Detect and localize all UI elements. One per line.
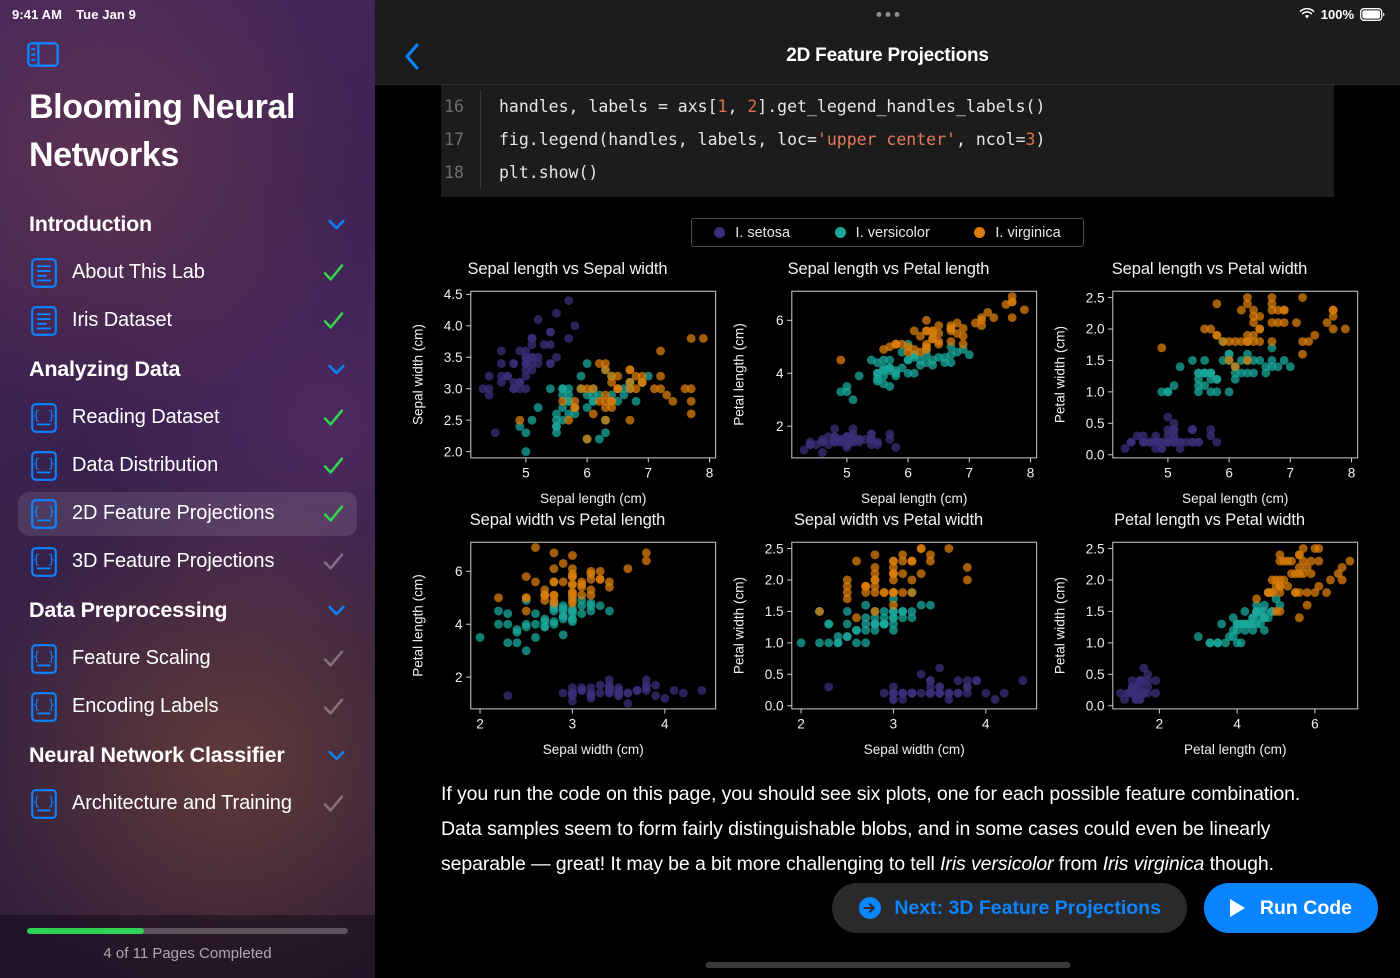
scatter-point bbox=[568, 551, 577, 560]
scatter-point bbox=[626, 365, 635, 374]
scatter-point bbox=[824, 683, 833, 692]
scatter-point bbox=[521, 428, 530, 437]
scatter-point bbox=[564, 296, 573, 305]
x-tick-label: 3 bbox=[569, 717, 577, 732]
sidebar-item-architecture-and-training[interactable]: { } Architecture and Training bbox=[18, 782, 357, 826]
scatter-point bbox=[917, 601, 926, 610]
x-axis-label: Sepal length (cm) bbox=[1182, 491, 1288, 506]
code-page-icon: { } bbox=[31, 692, 57, 722]
code-block[interactable]: 16handles, labels = axs[1, 2].get_legend… bbox=[441, 85, 1334, 197]
scatter-point bbox=[963, 563, 972, 572]
y-axis-label: Sepal width (cm) bbox=[410, 324, 425, 425]
scatter-point bbox=[623, 565, 632, 574]
sidebar-item-label: 3D Feature Projections bbox=[72, 550, 307, 573]
legend-entry: I. setosa bbox=[714, 225, 790, 241]
scatter-point bbox=[540, 615, 549, 624]
scatter-point bbox=[926, 557, 935, 566]
scatter-point bbox=[861, 620, 870, 629]
scatter-point bbox=[926, 689, 935, 698]
scatter-point bbox=[586, 599, 595, 608]
scatter-point bbox=[1275, 607, 1284, 616]
scatter-point bbox=[550, 591, 559, 600]
chart-panel: Sepal width vs Petal length234246Sepal w… bbox=[407, 511, 728, 762]
legend-label: I. setosa bbox=[735, 225, 790, 241]
scatter-point bbox=[568, 615, 577, 624]
multitasking-dots-button[interactable] bbox=[876, 12, 899, 17]
scatter-point bbox=[1244, 620, 1253, 629]
scatter-point bbox=[963, 576, 972, 585]
scatter-point bbox=[521, 353, 530, 362]
scatter-point bbox=[513, 639, 522, 648]
y-tick-label: 3.0 bbox=[444, 381, 463, 396]
code-text: plt.show() bbox=[499, 156, 598, 189]
scatter-point bbox=[503, 610, 512, 619]
scatter-point bbox=[842, 387, 851, 396]
scatter-point bbox=[1243, 356, 1252, 365]
scatter-point bbox=[934, 337, 943, 346]
scatter-point bbox=[1338, 563, 1347, 572]
scatter-point bbox=[842, 438, 851, 447]
scatter-point bbox=[880, 689, 889, 698]
scatter-point bbox=[540, 340, 549, 349]
scatter-point bbox=[910, 369, 919, 378]
scatter-point bbox=[855, 371, 864, 380]
scatter-point bbox=[1206, 639, 1215, 648]
scatter-point bbox=[954, 689, 963, 698]
svg-text:{ }: { } bbox=[33, 503, 56, 518]
chevron-down-icon bbox=[328, 364, 345, 375]
scatter-point bbox=[589, 409, 598, 418]
scatter-point bbox=[843, 620, 852, 629]
scatter-point bbox=[889, 576, 898, 585]
scatter-point bbox=[687, 334, 696, 343]
nav-section-introduction[interactable]: Introduction bbox=[0, 202, 375, 247]
scatter-point bbox=[1008, 297, 1017, 306]
scatter-point bbox=[1008, 313, 1017, 322]
check-icon-incomplete bbox=[322, 792, 345, 815]
scatter-point bbox=[1127, 438, 1136, 447]
check-icon-completed bbox=[322, 406, 345, 429]
scatter-point bbox=[528, 334, 537, 343]
scatter-point bbox=[596, 567, 605, 576]
code-page-icon: { } bbox=[31, 403, 57, 433]
scatter-point bbox=[503, 620, 512, 629]
scatter-point bbox=[614, 684, 623, 693]
check-icon-incomplete bbox=[322, 695, 345, 718]
scatter-plot: 2460.00.51.01.52.02.5Petal length (cm)Pe… bbox=[1049, 534, 1370, 762]
scatter-point bbox=[889, 557, 898, 566]
scatter-point bbox=[989, 313, 998, 322]
x-tick-label: 8 bbox=[706, 465, 714, 480]
svg-text:{ }: { } bbox=[33, 696, 56, 711]
scatter-point bbox=[503, 639, 512, 648]
page-content: 16handles, labels = axs[1, 2].get_legend… bbox=[375, 85, 1400, 978]
scatter-point bbox=[861, 639, 870, 648]
y-tick-label: 2.0 bbox=[765, 573, 784, 588]
svg-text:{ }: { } bbox=[33, 407, 56, 422]
scatter-point bbox=[601, 397, 610, 406]
scatter-point bbox=[568, 689, 577, 698]
y-tick-label: 2.5 bbox=[1086, 542, 1105, 557]
scatter-point bbox=[885, 430, 894, 439]
scatter-point bbox=[880, 620, 889, 629]
svg-text:{ }: { } bbox=[33, 551, 56, 566]
y-tick-label: 1.0 bbox=[1086, 636, 1105, 651]
scatter-point bbox=[1295, 563, 1304, 572]
scatter-point bbox=[577, 384, 586, 393]
scatter-point bbox=[509, 359, 518, 368]
sidebar-item-data-distribution[interactable]: { } Data Distribution bbox=[18, 444, 357, 488]
y-axis-label: Petal width (cm) bbox=[731, 577, 746, 674]
x-tick-label: 4 bbox=[661, 717, 669, 732]
scatter-point bbox=[871, 620, 880, 629]
scatter-point bbox=[1338, 576, 1347, 585]
scatter-point bbox=[1275, 589, 1284, 598]
chart-row-top: Sepal length vs Sepal width56782.02.53.0… bbox=[407, 260, 1370, 511]
scatter-point bbox=[596, 689, 605, 698]
x-axis-label: Sepal width (cm) bbox=[543, 743, 644, 758]
scatter-point bbox=[577, 372, 586, 381]
scatter-point bbox=[907, 557, 916, 566]
scatter-point bbox=[922, 342, 931, 351]
scatter-point bbox=[552, 309, 561, 318]
chart-panel: Petal length vs Petal width2460.00.51.01… bbox=[1049, 511, 1370, 762]
scatter-point bbox=[697, 686, 706, 695]
scatter-point bbox=[1157, 343, 1166, 352]
check-icon-completed bbox=[322, 454, 345, 477]
y-tick-label: 0.5 bbox=[1086, 667, 1105, 682]
nav-section-title: Data Preprocessing bbox=[29, 598, 227, 623]
scatter-point bbox=[944, 544, 953, 553]
sidebar-toggle-icon bbox=[27, 42, 59, 67]
scatter-point bbox=[1329, 306, 1338, 315]
scatter-point bbox=[656, 384, 665, 393]
scatter-point bbox=[497, 359, 506, 368]
scatter-point bbox=[534, 403, 543, 412]
chart-panel-title: Sepal width vs Petal width bbox=[728, 511, 1049, 530]
scatter-point bbox=[963, 677, 972, 686]
scatter-point bbox=[1151, 431, 1160, 440]
run-code-label: Run Code bbox=[1260, 897, 1352, 920]
scatter-point bbox=[818, 448, 827, 457]
x-tick-label: 2 bbox=[1156, 717, 1164, 732]
scatter-point bbox=[550, 549, 559, 558]
scatter-point bbox=[922, 316, 931, 325]
sidebar-nav: Introduction About This Lab Iris Dataset… bbox=[0, 202, 375, 826]
scatter-point bbox=[485, 372, 494, 381]
y-tick-label: 1.5 bbox=[1086, 605, 1105, 620]
code-page-icon: { } bbox=[31, 499, 57, 529]
line-number: 17 bbox=[441, 123, 481, 156]
chart-panel-title: Petal length vs Petal width bbox=[1049, 511, 1370, 530]
sidebar-toggle-button[interactable] bbox=[0, 28, 375, 67]
nav-section-neural-network-classifier[interactable]: Neural Network Classifier bbox=[0, 733, 375, 778]
scatter-point bbox=[586, 607, 595, 616]
scatter-point bbox=[568, 581, 577, 590]
check-icon-completed bbox=[322, 309, 345, 332]
scatter-point bbox=[564, 416, 573, 425]
x-tick-label: 5 bbox=[1164, 465, 1172, 480]
scatter-point bbox=[852, 626, 861, 635]
scatter-point bbox=[596, 575, 605, 584]
scatter-point bbox=[1163, 438, 1172, 447]
scatter-point bbox=[651, 692, 660, 701]
scatter-point bbox=[1345, 557, 1354, 566]
scatter-point bbox=[834, 639, 843, 648]
status-date: Tue Jan 9 bbox=[76, 7, 136, 22]
scatter-point bbox=[568, 599, 577, 608]
chart-panel-title: Sepal length vs Sepal width bbox=[407, 260, 728, 279]
x-tick-label: 2 bbox=[797, 717, 805, 732]
scatter-point bbox=[540, 623, 549, 632]
scatter-point bbox=[1303, 601, 1312, 610]
scatter-point bbox=[1287, 557, 1296, 566]
scatter-point bbox=[633, 686, 642, 695]
scatter-point bbox=[880, 589, 889, 598]
y-tick-label: 2.0 bbox=[1086, 322, 1105, 337]
scatter-point bbox=[898, 689, 907, 698]
sidebar-item-reading-dataset[interactable]: { } Reading Dataset bbox=[18, 396, 357, 440]
scatter-point bbox=[1268, 318, 1277, 327]
svg-text:{ }: { } bbox=[33, 793, 56, 808]
scatter-point bbox=[531, 620, 540, 629]
scatter-point bbox=[476, 633, 485, 642]
scatter-point bbox=[1116, 689, 1125, 698]
scatter-point bbox=[898, 557, 907, 566]
y-tick-label: 2.0 bbox=[444, 444, 463, 459]
scatter-point bbox=[917, 670, 926, 679]
scatter-point bbox=[1268, 337, 1277, 346]
species-emphasis: Iris virginica bbox=[1103, 853, 1205, 875]
sidebar-item-label: Data Distribution bbox=[72, 454, 307, 477]
scatter-point bbox=[1280, 318, 1289, 327]
scatter-point bbox=[1298, 293, 1307, 302]
status-right-group: 100% bbox=[1299, 7, 1385, 22]
scatter-point bbox=[1237, 620, 1246, 629]
scatter-point bbox=[1237, 639, 1246, 648]
scatter-point bbox=[871, 563, 880, 572]
scatter-point bbox=[898, 607, 907, 616]
line-number: 16 bbox=[441, 90, 481, 123]
scatter-point bbox=[596, 681, 605, 690]
scatter-point bbox=[651, 681, 660, 690]
scatter-point bbox=[601, 428, 610, 437]
chevron-left-icon bbox=[404, 43, 420, 70]
scatter-point bbox=[815, 607, 824, 616]
scatter-point bbox=[1291, 589, 1300, 598]
scatter-point bbox=[907, 576, 916, 585]
sidebar-item-3d-feature-projections[interactable]: { } 3D Feature Projections bbox=[18, 540, 357, 584]
y-tick-label: 6 bbox=[776, 313, 784, 328]
scatter-point bbox=[559, 578, 568, 587]
y-tick-label: 1.5 bbox=[765, 605, 784, 620]
scatter-point bbox=[889, 683, 898, 692]
scatter-point bbox=[944, 695, 953, 704]
code-page-icon: { } bbox=[31, 789, 57, 819]
legend-label: I. virginica bbox=[995, 225, 1060, 241]
scatter-point bbox=[528, 416, 537, 425]
scatter-point bbox=[898, 340, 907, 349]
nav-section-analyzing-data[interactable]: Analyzing Data bbox=[0, 347, 375, 392]
scatter-point bbox=[849, 424, 858, 433]
scatter-point bbox=[577, 602, 586, 611]
sidebar-item-2d-feature-projections[interactable]: { } 2D Feature Projections bbox=[18, 492, 357, 536]
sidebar-footer: 4 of 11 Pages Completed bbox=[0, 915, 375, 978]
species-emphasis: Iris versicolor bbox=[940, 853, 1053, 875]
sidebar-item-label: Feature Scaling bbox=[72, 647, 307, 670]
scatter-point bbox=[836, 356, 845, 365]
chart-row-bottom: Sepal width vs Petal length234246Sepal w… bbox=[407, 511, 1370, 762]
arrow-right-circle-icon bbox=[858, 896, 882, 920]
scatter-plot: 234246Sepal width (cm)Petal length (cm) bbox=[407, 534, 728, 762]
scatter-point bbox=[1303, 589, 1312, 598]
scatter-point bbox=[916, 332, 925, 341]
y-tick-label: 2.5 bbox=[765, 542, 784, 557]
back-button[interactable] bbox=[397, 41, 427, 71]
scatter-point bbox=[879, 345, 888, 354]
chart-grid: Sepal length vs Sepal width56782.02.53.0… bbox=[375, 247, 1400, 763]
scatter-point bbox=[540, 591, 549, 600]
document-icon bbox=[31, 258, 57, 288]
y-tick-label: 4.5 bbox=[444, 287, 463, 302]
y-tick-label: 6 bbox=[455, 564, 463, 579]
scatter-point bbox=[559, 559, 568, 568]
x-axis-label: Sepal length (cm) bbox=[540, 491, 646, 506]
scatter-point bbox=[885, 382, 894, 391]
next-page-button[interactable]: Next: 3D Feature Projections bbox=[832, 883, 1187, 933]
x-axis-label: Petal length (cm) bbox=[1184, 743, 1287, 758]
main-status-bar: 100% bbox=[375, 0, 1400, 28]
scatter-point bbox=[1170, 381, 1179, 390]
y-axis-label: Petal width (cm) bbox=[1052, 577, 1067, 674]
y-tick-label: 2 bbox=[455, 670, 463, 685]
sidebar-item-about-this-lab[interactable]: About This Lab bbox=[18, 251, 357, 295]
scatter-point bbox=[660, 694, 669, 703]
scatter-point bbox=[1200, 356, 1209, 365]
scatter-point bbox=[1249, 312, 1258, 321]
scatter-point bbox=[959, 332, 968, 341]
code-text: handles, labels = axs[1, 2].get_legend_h… bbox=[499, 90, 1045, 123]
scatter-point bbox=[1295, 614, 1304, 623]
scatter-point bbox=[513, 628, 522, 637]
y-tick-label: 2.5 bbox=[1086, 290, 1105, 305]
chart-panel: Sepal length vs Petal length5678246Sepal… bbox=[728, 260, 1049, 511]
scatter-point bbox=[873, 377, 882, 386]
scatter-point bbox=[904, 348, 913, 357]
scatter-point bbox=[1212, 299, 1221, 308]
scatter-point bbox=[935, 664, 944, 673]
chart-panel-title: Sepal width vs Petal length bbox=[407, 511, 728, 530]
sidebar-status-bar: 9:41 AM Tue Jan 9 bbox=[0, 0, 375, 28]
scatter-point bbox=[491, 428, 500, 437]
y-tick-label: 1.0 bbox=[1086, 385, 1105, 400]
code-page-icon: { } bbox=[31, 644, 57, 674]
scatter-point bbox=[509, 384, 518, 393]
legend-color-dot bbox=[714, 227, 725, 238]
scatter-point bbox=[586, 689, 595, 698]
y-tick-label: 3.5 bbox=[444, 350, 463, 365]
scatter-point bbox=[642, 549, 651, 558]
x-tick-label: 5 bbox=[843, 465, 851, 480]
scatter-point bbox=[601, 416, 610, 425]
scatter-point bbox=[861, 435, 870, 444]
nav-section-data-preprocessing[interactable]: Data Preprocessing bbox=[0, 588, 375, 633]
scatter-point bbox=[1243, 331, 1252, 340]
y-tick-label: 2 bbox=[776, 419, 784, 434]
scatter-point bbox=[497, 347, 506, 356]
scatter-point bbox=[521, 447, 530, 456]
y-tick-label: 0.0 bbox=[1086, 447, 1105, 462]
scatter-point bbox=[656, 347, 665, 356]
chart-legend: I. setosa I. versicolor I. virginica bbox=[691, 218, 1084, 247]
y-tick-label: 0.0 bbox=[765, 699, 784, 714]
x-tick-label: 8 bbox=[1027, 465, 1035, 480]
sidebar-item-label: 2D Feature Projections bbox=[72, 502, 307, 525]
x-tick-label: 2 bbox=[476, 717, 484, 732]
scatter-point bbox=[583, 435, 592, 444]
scatter-point bbox=[1329, 325, 1338, 334]
y-tick-label: 0.0 bbox=[1086, 699, 1105, 714]
run-code-button[interactable]: Run Code bbox=[1204, 883, 1378, 933]
y-axis-label: Petal length (cm) bbox=[410, 575, 425, 678]
status-time: 9:41 AM bbox=[12, 7, 62, 22]
scatter-point bbox=[889, 626, 898, 635]
scatter-point bbox=[577, 591, 586, 600]
chart-panel: Sepal width vs Petal width2340.00.51.01.… bbox=[728, 511, 1049, 762]
check-icon-completed bbox=[322, 502, 345, 525]
scatter-point bbox=[568, 573, 577, 582]
sidebar-item-encoding-labels[interactable]: { } Encoding Labels bbox=[18, 685, 357, 729]
scatter-point bbox=[577, 686, 586, 695]
scatter-point bbox=[830, 424, 839, 433]
scatter-point bbox=[623, 700, 632, 709]
sidebar-item-feature-scaling[interactable]: { } Feature Scaling bbox=[18, 637, 357, 681]
scatter-point bbox=[534, 315, 543, 324]
play-icon bbox=[1226, 896, 1248, 920]
scatter-point bbox=[926, 601, 935, 610]
body-paragraph: If you run the code on this page, you sh… bbox=[375, 763, 1400, 882]
scatter-point bbox=[926, 677, 935, 686]
scatter-point bbox=[550, 565, 559, 574]
scatter-point bbox=[1020, 305, 1029, 314]
y-tick-label: 1.5 bbox=[1086, 353, 1105, 368]
scatter-point bbox=[824, 620, 833, 629]
scatter-point bbox=[1279, 557, 1288, 566]
scatter-point bbox=[1279, 576, 1288, 585]
y-tick-label: 1.0 bbox=[765, 636, 784, 651]
scatter-point bbox=[1151, 677, 1160, 686]
scatter-point bbox=[1170, 425, 1179, 434]
chevron-down-icon bbox=[328, 219, 345, 230]
scatter-point bbox=[1139, 664, 1148, 673]
scatter-point bbox=[871, 607, 880, 616]
scatter-point bbox=[1255, 325, 1264, 334]
scatter-point bbox=[1221, 639, 1230, 648]
scatter-point bbox=[522, 620, 531, 629]
scatter-point bbox=[977, 321, 986, 330]
code-line: 17fig.legend(handles, labels, loc='upper… bbox=[441, 123, 1334, 156]
scatter-point bbox=[928, 329, 937, 338]
scatter-point bbox=[907, 589, 916, 598]
scatter-point bbox=[614, 692, 623, 701]
check-icon-incomplete bbox=[322, 550, 345, 573]
sidebar-item-iris-dataset[interactable]: Iris Dataset bbox=[18, 299, 357, 343]
scatter-point bbox=[699, 334, 708, 343]
scatter-point bbox=[947, 350, 956, 359]
scatter-point bbox=[521, 365, 530, 374]
code-text: fig.legend(handles, labels, loc='upper c… bbox=[499, 123, 1045, 156]
y-axis-label: Petal length (cm) bbox=[731, 323, 746, 426]
